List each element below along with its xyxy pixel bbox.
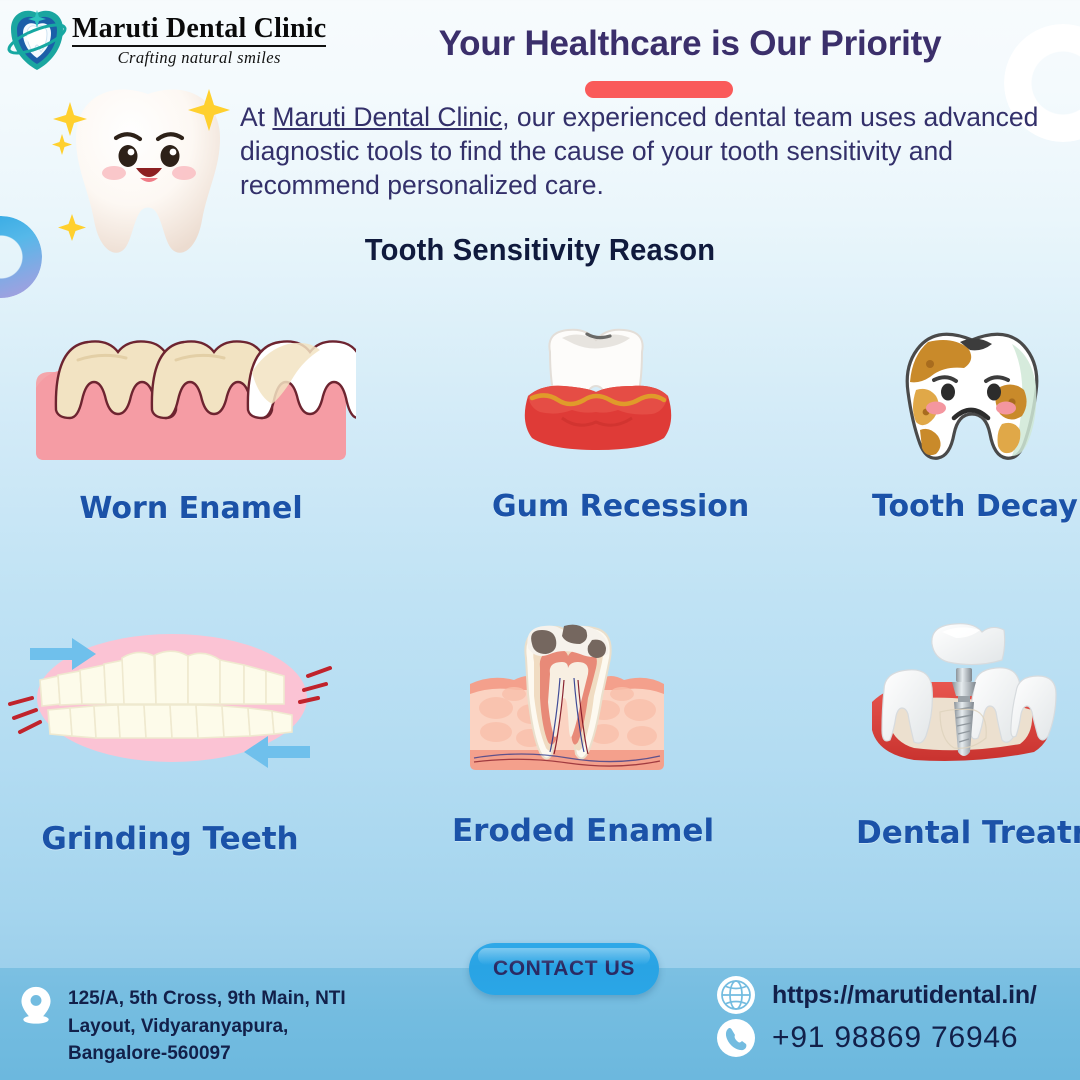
card-label-gum-recession: Gum Recession: [492, 489, 702, 524]
dental-implant-icon: [856, 618, 1071, 788]
page-headline: Your Healthcare is Our Priority: [340, 24, 1040, 64]
card-label-eroded-enamel: Eroded Enamel: [452, 813, 682, 849]
tooth-shield-logo-icon: [6, 9, 68, 73]
phone-icon: [716, 1018, 756, 1058]
clinic-logo: Maruti Dental Clinic Crafting natural sm…: [6, 4, 336, 78]
card-label-tooth-decay: Tooth Decay: [872, 489, 1072, 524]
decayed-sad-tooth-icon: [872, 326, 1072, 466]
address-block: 125/A, 5th Cross, 9th Main, NTI Layout, …: [16, 985, 346, 1068]
website-url[interactable]: https://marutidental.in/: [772, 981, 1037, 1010]
logo-divider: [72, 45, 326, 47]
phone-block[interactable]: +91 98869 76946: [716, 1018, 1018, 1058]
address-line-1: 125/A, 5th Cross, 9th Main, NTI: [68, 985, 346, 1013]
address-text: 125/A, 5th Cross, 9th Main, NTI Layout, …: [68, 985, 346, 1068]
intro-paragraph: At Maruti Dental Clinic, our experienced…: [240, 100, 1045, 202]
intro-brand-name: Maruti Dental Clinic: [272, 102, 502, 132]
headline-accent-bar: [585, 81, 733, 98]
grinding-teeth-icon: [0, 618, 340, 788]
contact-us-button[interactable]: CONTACT US: [469, 943, 659, 995]
gum-recession-tooth-icon: [492, 326, 702, 466]
card-label-dental-treatments: Dental Treatments: [856, 815, 1071, 851]
section-title: Tooth Sensitivity Reason: [32, 232, 1047, 268]
address-line-2: Layout, Vidyaranyapura,: [68, 1013, 346, 1041]
card-label-worn-enamel: Worn Enamel: [26, 491, 356, 526]
card-dental-treatments: Dental Treatments: [856, 618, 1071, 851]
globe-icon: [716, 975, 756, 1015]
card-worn-enamel: Worn Enamel: [26, 326, 356, 526]
card-eroded-enamel: Eroded Enamel: [452, 618, 682, 849]
card-label-grinding-teeth: Grinding Teeth: [0, 821, 340, 857]
card-grinding-teeth: Grinding Teeth: [0, 618, 340, 857]
map-pin-icon: [16, 985, 56, 1025]
logo-name: Maruti Dental Clinic: [72, 14, 326, 43]
card-gum-recession: Gum Recession: [492, 326, 702, 524]
worn-enamel-teeth-icon: [26, 326, 356, 466]
eroded-enamel-cross-section-icon: [452, 618, 682, 788]
card-tooth-decay: Tooth Decay: [872, 326, 1072, 524]
website-block[interactable]: https://marutidental.in/: [716, 975, 1037, 1015]
logo-tagline: Crafting natural smiles: [72, 48, 326, 68]
phone-number[interactable]: +91 98869 76946: [772, 1021, 1018, 1055]
address-line-3: Bangalore-560097: [68, 1040, 346, 1068]
